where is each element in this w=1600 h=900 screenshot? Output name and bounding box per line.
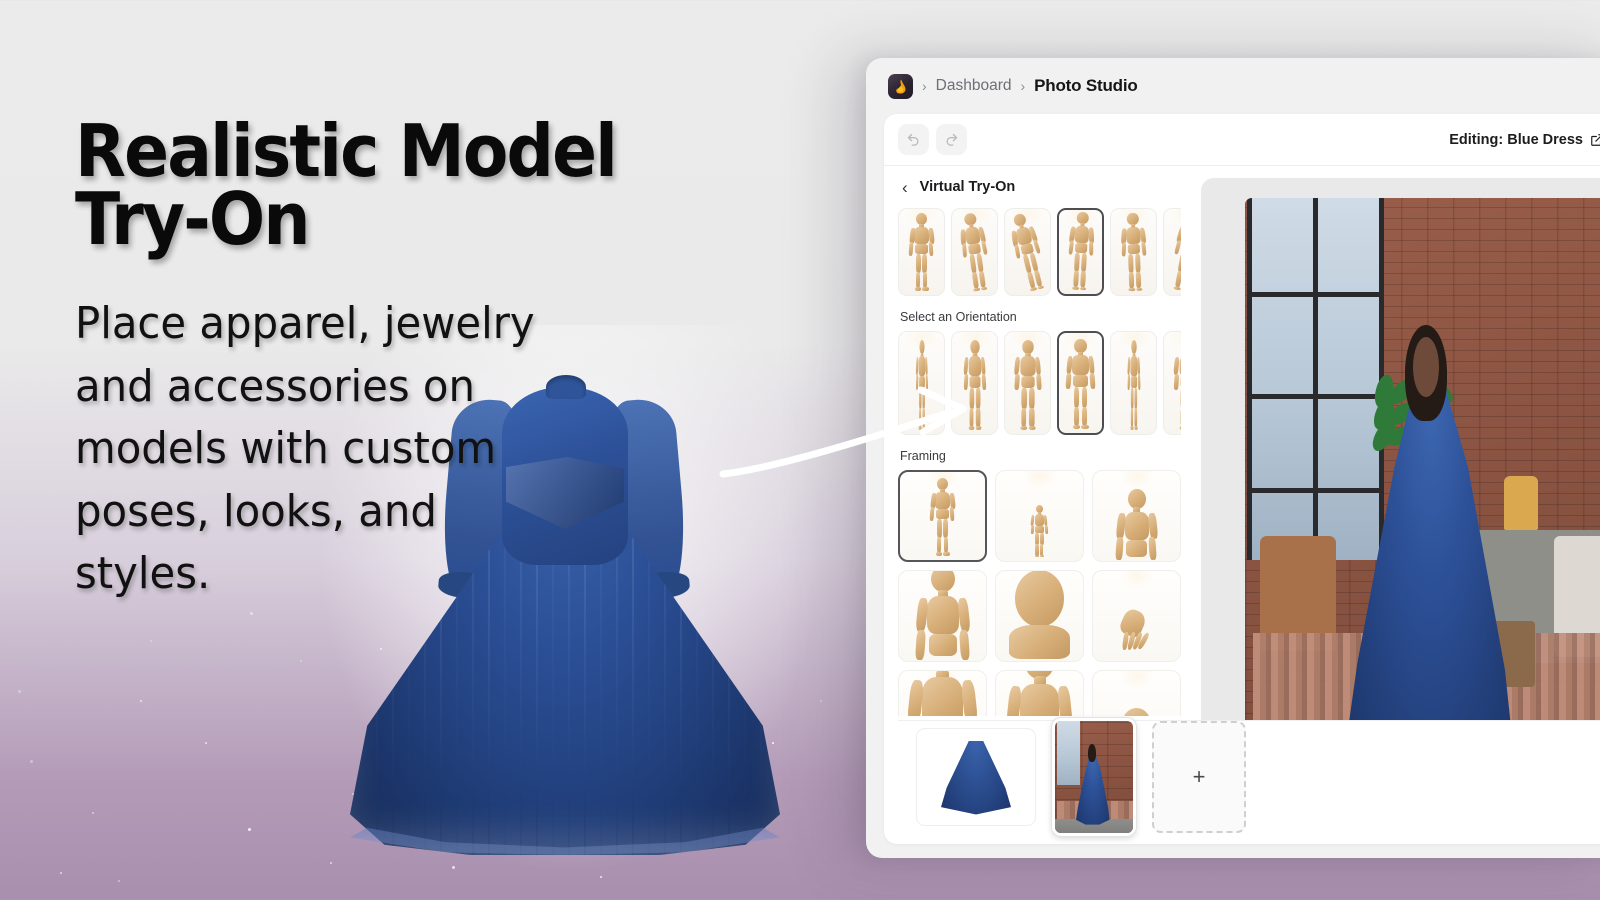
framing-option-shoulder-crop[interactable]: [898, 670, 987, 716]
studio-panel: Editing: Blue Dress ‹ Virtual Try-On Sel…: [884, 114, 1600, 844]
sparkle: [118, 880, 120, 882]
mannequin-part: [1066, 373, 1072, 389]
filmstrip-item-source-garment[interactable]: [916, 728, 1036, 826]
mannequin-part: [937, 519, 942, 537]
mannequin-part: [1137, 357, 1140, 375]
options-title: Virtual Try-On: [920, 179, 1016, 195]
mannequin-part: [1073, 253, 1079, 272]
mannequin-part: [922, 287, 928, 291]
mannequin-part: [1067, 241, 1073, 255]
window-mullion-left: [1247, 198, 1252, 560]
mannequin-part: [1180, 408, 1181, 427]
mannequin-part: [909, 242, 914, 256]
mannequin-part: [929, 242, 934, 256]
mannequin-part: [976, 253, 984, 272]
orientation-option-front-slight-left[interactable]: [1004, 331, 1051, 435]
orientation-option-right-profile[interactable]: [1110, 331, 1157, 435]
mannequin-part: [969, 254, 977, 273]
mannequin-part: [1074, 339, 1087, 353]
thumb-window: [1057, 721, 1080, 786]
filmstrip-item-generated-result[interactable]: [1052, 718, 1136, 836]
mannequin-part: [1126, 540, 1147, 557]
mannequin-part: [1130, 376, 1137, 388]
framing-grid[interactable]: [898, 470, 1181, 716]
sparkle: [140, 700, 142, 702]
sparkle: [300, 660, 302, 662]
mannequin-part: [961, 679, 979, 716]
mannequin-part: [936, 509, 949, 519]
mannequin-part: [1014, 357, 1021, 375]
mannequin-part: [1127, 374, 1130, 390]
editing-status: Editing: Blue Dress: [1449, 132, 1600, 148]
model-preview[interactable]: [1245, 198, 1600, 802]
breadcrumb: › Dashboard › Photo Studio: [866, 58, 1600, 114]
mannequin-part: [1173, 286, 1180, 291]
app-window: › Dashboard › Photo Studio Editing: Blue…: [866, 58, 1600, 858]
mannequin-part: [1040, 533, 1043, 545]
mannequin-part: [1028, 426, 1035, 430]
mannequin-part: [927, 596, 959, 634]
mannequin-part: [1073, 375, 1088, 387]
orientation-label: Select an Orientation: [900, 310, 1181, 324]
mannequin-glow: [1170, 208, 1182, 227]
mannequin-part: [1040, 544, 1043, 555]
framing-option-full-body-small[interactable]: [995, 470, 1084, 562]
mannequin-part: [1072, 355, 1089, 375]
mannequin-part: [1080, 271, 1085, 288]
mannequin-part: [1040, 555, 1044, 557]
mannequin-part: [1031, 524, 1034, 533]
mannequin-glow: [1120, 470, 1154, 489]
mannequin-part: [936, 552, 942, 556]
thumb-model-hair: [1088, 744, 1097, 762]
mannequin-part: [1089, 373, 1095, 389]
mannequin-part: [1032, 240, 1040, 254]
floor-lamp: [1504, 476, 1538, 530]
mannequin-part: [1134, 254, 1140, 273]
mannequin-part: [1036, 374, 1042, 390]
sparkle: [205, 742, 207, 744]
breadcrumb-separator-1: ›: [922, 78, 927, 94]
mannequin-part: [981, 374, 986, 390]
garment-thumbnail-image: [941, 741, 1011, 815]
marketing-subcopy: Place apparel, jewelry and accessories o…: [75, 293, 569, 605]
sparkle: [250, 612, 253, 615]
mannequin-part: [975, 388, 980, 409]
external-link-icon[interactable]: [1590, 133, 1600, 147]
mannequin-part: [937, 537, 942, 554]
mannequin-part: [1073, 425, 1080, 429]
mannequin-part: [1115, 537, 1123, 560]
sparkle: [30, 760, 33, 763]
mannequin-part: [915, 287, 921, 291]
mannequin-part: [944, 537, 949, 554]
mannequin-part: [1035, 533, 1038, 545]
mannequin-part: [1125, 512, 1149, 541]
mannequin-part: [980, 286, 987, 291]
mannequin-part: [1015, 570, 1064, 627]
mannequin-part: [929, 634, 957, 656]
mannequin-part: [1019, 356, 1035, 376]
mannequin-part: [923, 272, 928, 289]
mannequin-part: [958, 630, 969, 661]
undo-button[interactable]: [898, 124, 929, 155]
mannequin-part: [1121, 243, 1126, 257]
pose-option-hand-on-hip[interactable]: [1057, 208, 1104, 296]
mannequin-part: [1122, 708, 1151, 716]
editing-label: Editing: Blue Dress: [1449, 132, 1583, 148]
mannequin-part: [1128, 272, 1133, 289]
framing-option-full-body[interactable]: [898, 470, 987, 562]
page-title: Realistic Model Try-On: [75, 118, 645, 253]
pose-option-seated[interactable]: [1163, 208, 1181, 296]
mannequin-part: [1174, 270, 1181, 287]
mannequin-part: [1072, 286, 1079, 290]
mannequin-part: [1148, 537, 1156, 560]
mannequin-part: [1082, 387, 1088, 408]
breadcrumb-item-dashboard[interactable]: Dashboard: [936, 77, 1012, 95]
mannequin-part: [1137, 374, 1140, 390]
mannequin-part: [1177, 253, 1181, 272]
mannequin-part: [922, 677, 964, 716]
headline-line-1: Realistic Model: [75, 118, 645, 186]
mannequin-part: [975, 408, 979, 427]
mannequin-figure: [1132, 213, 1135, 292]
mannequin-part: [1009, 625, 1070, 659]
mannequin-part: [1081, 425, 1088, 429]
mannequin-glow: [1170, 331, 1182, 350]
mannequin-part: [918, 356, 925, 376]
window-mullion-center: [1313, 198, 1318, 560]
asset-filmstrip: +: [898, 720, 1600, 832]
mannequin-part: [922, 254, 927, 272]
mannequin-part: [1073, 270, 1078, 287]
sparkle: [248, 828, 251, 831]
mannequin-part: [1130, 356, 1138, 376]
dress-pleat: [712, 515, 714, 855]
breadcrumb-separator-2: ›: [1021, 78, 1026, 94]
mannequin-part: [1128, 287, 1135, 291]
orientation-option-back-facing[interactable]: [1163, 331, 1181, 435]
mannequin-part: [916, 272, 921, 289]
pose-option-walking-front[interactable]: [1110, 208, 1157, 296]
mannequin-part: [1128, 254, 1134, 273]
mannequin-part: [919, 340, 924, 354]
pose-option-walking-side[interactable]: [951, 208, 998, 296]
mannequin-part: [1057, 685, 1073, 716]
mannequin-part: [1173, 374, 1178, 390]
framing-option-three-quarter-body[interactable]: [1092, 470, 1181, 562]
mannequin-part: [1028, 388, 1034, 409]
mannequin-part: [915, 244, 928, 254]
framing-option-head-crop[interactable]: [1092, 670, 1181, 716]
mannequin-part: [1131, 340, 1137, 354]
mannequin-part: [1173, 357, 1180, 375]
pose-option-profile-side[interactable]: [1004, 208, 1051, 296]
framing-option-headshot[interactable]: [995, 570, 1084, 662]
mannequin-part: [971, 272, 978, 289]
sparkle: [150, 640, 152, 642]
mannequin-part: [1020, 426, 1027, 430]
mannequin-part: [935, 492, 950, 509]
mannequin-glow: [1120, 570, 1154, 589]
editor-toolbar: Editing: Blue Dress: [884, 114, 1600, 166]
sparkle: [60, 872, 62, 874]
mannequin-part: [1128, 489, 1146, 509]
redo-button[interactable]: [936, 124, 967, 155]
pose-option-standing-front[interactable]: [898, 208, 945, 296]
mannequin-part: [970, 340, 980, 354]
result-thumbnail-image: [1055, 721, 1133, 833]
app-logo-icon[interactable]: [888, 74, 913, 99]
mannequin-part: [1035, 544, 1038, 555]
mannequin-part: [1134, 388, 1137, 409]
mannequin-part: [925, 357, 928, 375]
back-chevron-icon[interactable]: ‹: [902, 179, 908, 196]
mannequin-part: [1044, 524, 1047, 533]
mannequin-part: [1035, 555, 1039, 557]
mannequin-part: [1173, 240, 1180, 254]
orientation-option-front-facing[interactable]: [1057, 331, 1104, 435]
mannequin-part: [1021, 388, 1027, 409]
mannequin-part: [1079, 286, 1086, 290]
mannequin-part: [1080, 253, 1086, 272]
breadcrumb-item-photo-studio: Photo Studio: [1034, 76, 1137, 96]
mannequin-part: [963, 357, 969, 375]
mannequin-part: [968, 356, 981, 376]
mannequin-part: [1074, 225, 1090, 243]
mannequin-part: [1134, 426, 1137, 430]
sparkle: [92, 812, 94, 814]
framing-option-upper-body[interactable]: [898, 570, 987, 662]
mannequin-part: [1074, 387, 1080, 408]
mannequin-part: [1035, 526, 1044, 533]
mannequin-part: [1044, 514, 1048, 525]
mannequin-part: [916, 254, 921, 272]
pose-row[interactable]: [898, 208, 1181, 296]
framing-option-torso-crop[interactable]: [995, 670, 1084, 716]
mannequin-part: [1074, 407, 1079, 426]
mannequin-part: [957, 598, 970, 633]
add-asset-button[interactable]: +: [1152, 721, 1246, 833]
mannequin-part: [1013, 245, 1019, 259]
mannequin-part: [1029, 408, 1034, 427]
mannequin-part: [1180, 376, 1181, 388]
mannequin-part: [973, 287, 980, 292]
mannequin-part: [1135, 287, 1142, 291]
mannequin-part: [930, 507, 935, 521]
headline-line-2: Try-On: [75, 186, 645, 254]
dress-pleat: [760, 515, 762, 855]
preview-scene: [1245, 198, 1600, 802]
mannequin-glow: [1023, 470, 1057, 489]
mannequin-part: [1130, 426, 1133, 430]
mannequin-part: [961, 244, 966, 258]
framing-option-hand-detail[interactable]: [1092, 570, 1181, 662]
mannequin-part: [1179, 426, 1181, 430]
mannequin-part: [943, 519, 948, 537]
mannequin-part: [1130, 388, 1133, 409]
dress-pleat: [696, 515, 698, 855]
mannequin-part: [1147, 513, 1157, 539]
mannequin-part: [1140, 242, 1146, 256]
mannequin-part: [980, 357, 986, 375]
mannequin-part: [1088, 242, 1092, 256]
mannequin-part: [1125, 226, 1140, 244]
mannequin-part: [1180, 388, 1181, 409]
mannequin-part: [1088, 356, 1095, 374]
mannequin-part: [1130, 408, 1132, 427]
mannequin-part: [1013, 374, 1019, 390]
marketing-copy: Realistic Model Try-On Place apparel, je…: [75, 118, 695, 606]
mannequin-part: [1021, 340, 1033, 354]
mannequin-part: [1021, 408, 1026, 427]
mannequin-part: [1035, 357, 1042, 375]
mannequin-part: [978, 271, 985, 288]
mannequin-part: [1135, 272, 1140, 289]
mannequin-glow: [1120, 670, 1154, 689]
mannequin-part: [1020, 684, 1058, 716]
mannequin-part: [914, 227, 929, 244]
dress-pleat: [744, 515, 746, 855]
pointer-arrow-icon: [715, 382, 975, 482]
mannequin-part: [1134, 408, 1136, 427]
mannequin-part: [914, 630, 925, 661]
mannequin-part: [975, 426, 981, 430]
mannequin-part: [1020, 376, 1034, 388]
window-rail-1: [1247, 292, 1384, 297]
mannequin-part: [1082, 407, 1087, 426]
mannequin-part: [1088, 227, 1093, 243]
mannequin-part: [980, 241, 987, 255]
mannequin-part: [1074, 243, 1087, 254]
mannequin-part: [950, 507, 955, 521]
dress-pleat: [728, 515, 730, 855]
options-header: ‹ Virtual Try-On: [898, 166, 1189, 208]
sparkle: [18, 690, 21, 693]
mannequin-part: [943, 552, 949, 556]
mannequin-part: [1127, 244, 1140, 255]
